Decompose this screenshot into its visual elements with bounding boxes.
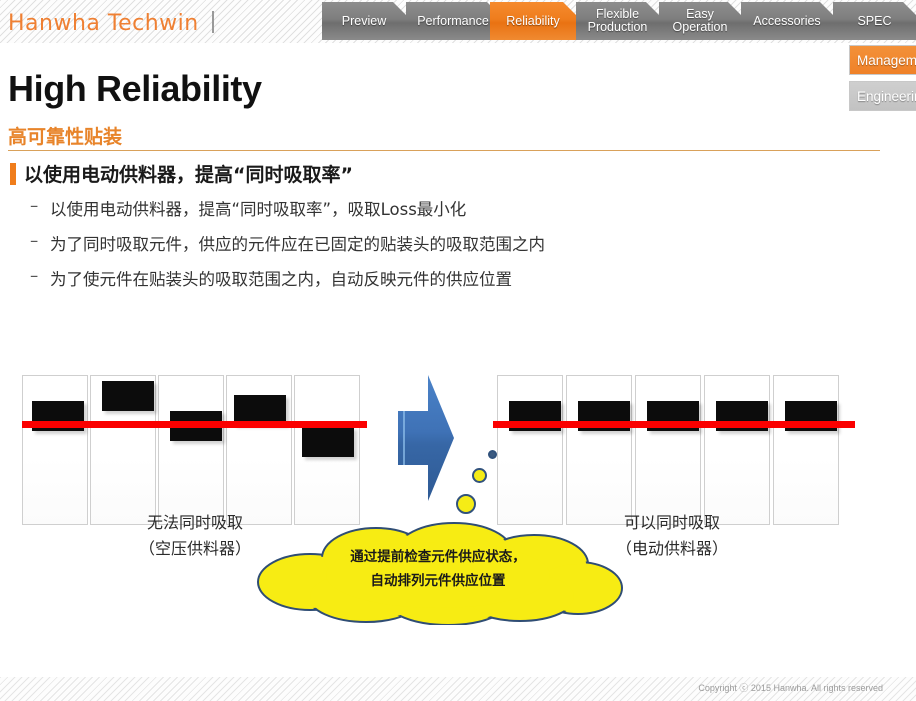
section-heading: 以使用电动供料器，提高“同时吸取率”: [10, 160, 870, 188]
bullet-dash: –: [30, 196, 38, 215]
feeder-slot-right: [773, 375, 839, 525]
bullet-item: –为了使元件在贴装头的吸取范围之内，自动反映元件的供应位置: [30, 266, 890, 290]
heading-accent-bar: [10, 163, 16, 185]
callout-dot-large: [456, 494, 476, 514]
company-logo: Hanwha Techwin: [8, 11, 199, 36]
bullet-text: 为了使元件在贴装头的吸取范围之内，自动反映元件的供应位置: [50, 270, 512, 289]
tab-label: Preview: [326, 15, 402, 28]
tab-label: SPEC: [837, 15, 912, 28]
component-chip-left: [102, 381, 154, 411]
component-chip-left: [302, 427, 354, 457]
feeder-slot-left: [22, 375, 88, 525]
title-divider: [8, 150, 880, 151]
tab-flexible[interactable]: FlexibleProduction: [576, 2, 659, 40]
tab-preview[interactable]: Preview: [322, 2, 406, 40]
logo-divider: [212, 11, 214, 33]
heading-text: 以使用电动供料器，提高“同时吸取率”: [24, 160, 353, 187]
feeder-slot-right: [566, 375, 632, 525]
tab-label-second-line: Operation: [663, 21, 737, 34]
header-underline: [0, 43, 916, 46]
cloud-text-line2: 自动排列元件供应位置: [248, 569, 628, 593]
tab-easy[interactable]: EasyOperation: [659, 2, 741, 40]
cloud-callout-text: 通过提前检查元件供应状态， 自动排列元件供应位置: [248, 545, 628, 593]
pickup-range-line-overlay-left: [22, 421, 367, 428]
tab-label-second-line: Production: [580, 21, 655, 34]
bullet-list: –以使用电动供料器，提高“同时吸取率”，吸取Loss最小化–为了同时吸取元件，供…: [30, 196, 890, 301]
side-button-management-label: Management: [857, 53, 916, 68]
process-arrow-icon: [398, 373, 454, 503]
page-title: High Reliability: [8, 68, 262, 110]
diagram-area: 无法同时吸取 （空压供料器） 可以同时吸取 （电动供料器）: [0, 355, 916, 645]
side-button-engineering[interactable]: Engineering: [849, 81, 916, 111]
bullet-item: –为了同时吸取元件，供应的元件应在已固定的贴装头的吸取范围之内: [30, 231, 890, 255]
tab-reliability[interactable]: Reliability: [490, 2, 576, 40]
bullet-text: 以使用电动供料器，提高“同时吸取率”，吸取Loss最小化: [50, 200, 466, 219]
callout-dot-small: [488, 450, 497, 459]
bullet-text: 为了同时吸取元件，供应的元件应在已固定的贴装头的吸取范围之内: [50, 235, 545, 254]
tab-label: Reliability: [494, 15, 572, 28]
pickup-range-line-overlay-right: [493, 421, 855, 428]
feeder-slot-right: [497, 375, 563, 525]
feeder-slot-left: [158, 375, 224, 525]
tab-label: Performance: [410, 15, 496, 28]
page-subtitle: 高可靠性贴装: [8, 122, 122, 149]
tab-label: Accessories: [745, 15, 829, 28]
slide-root: Hanwha Techwin PreviewPerformanceReliabi…: [0, 0, 916, 701]
tab-performance[interactable]: Performance: [406, 2, 500, 40]
feeder-slot-right: [635, 375, 701, 525]
bullet-item: –以使用电动供料器，提高“同时吸取率”，吸取Loss最小化: [30, 196, 890, 220]
side-button-engineering-label: Engineering: [857, 89, 916, 104]
bullet-dash: –: [30, 266, 38, 285]
cloud-text-line1: 通过提前检查元件供应状态，: [248, 545, 628, 569]
feeder-slot-right: [704, 375, 770, 525]
bullet-dash: –: [30, 231, 38, 250]
tab-spec[interactable]: SPEC: [833, 2, 916, 40]
callout-dot-medium: [472, 468, 487, 483]
copyright-text: Copyright ⓒ 2015 Hanwha. All rights rese…: [698, 681, 883, 694]
side-button-management[interactable]: Management: [849, 45, 916, 75]
tab-accessories[interactable]: Accessories: [741, 2, 833, 40]
